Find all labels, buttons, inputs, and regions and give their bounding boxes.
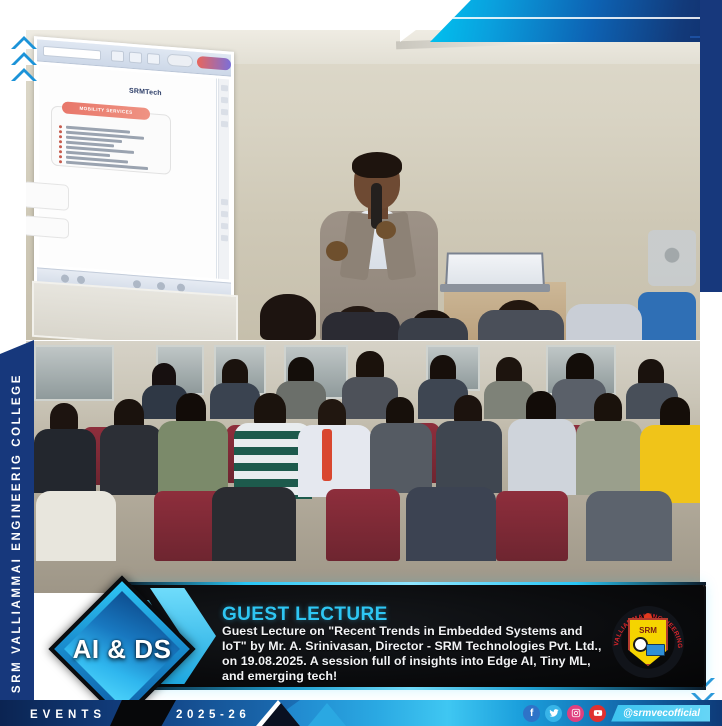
social-handle-text: @srmvecofficial	[623, 708, 700, 719]
facebook-icon[interactable]: f	[523, 705, 540, 722]
side-card	[26, 215, 69, 239]
twitter-icon[interactable]	[545, 705, 562, 722]
mobility-services-card: MOBILITY SERVICES	[51, 105, 171, 174]
chevron-up-icon	[10, 36, 40, 96]
side-card	[26, 181, 69, 211]
instagram-icon[interactable]	[567, 705, 584, 722]
right-frame-navy	[700, 0, 722, 292]
pdf-ask-ai-button	[197, 56, 231, 71]
banner-title: GUEST LECTURE	[222, 604, 388, 626]
mobility-services-header: MOBILITY SERVICES	[62, 101, 150, 120]
college-logo: VALLIAMMAI ENGINEERING COLLEGE SRM	[610, 604, 686, 682]
events-label: EVENTS	[30, 709, 106, 721]
projector-screen: SRMTech MOBILITY SERVICES	[34, 36, 234, 302]
logo-book-icon	[646, 644, 665, 656]
bullet-line	[66, 161, 148, 170]
banner-description: Guest Lecture on "Recent Trends in Embed…	[222, 624, 610, 684]
speaker-hand	[326, 241, 348, 261]
blue-chair	[638, 292, 696, 340]
top-diagonal-highlight	[430, 0, 722, 42]
events-strip: EVENTS 2025-26 f @srmvecofficial	[0, 700, 722, 726]
window	[34, 345, 114, 401]
social-links: f @srmvecofficial	[523, 704, 710, 722]
event-poster: SRMTech MOBILITY SERVICES	[0, 0, 722, 726]
right-frame-accent-line	[690, 36, 700, 38]
logo-shield-text: SRM	[628, 626, 668, 635]
pdf-tool-icon	[111, 50, 124, 62]
pdf-page: SRMTech MOBILITY SERVICES	[39, 65, 217, 279]
photo-audience	[26, 341, 702, 593]
laptop-screen	[445, 253, 545, 286]
pdf-share-button	[167, 54, 193, 68]
youtube-icon[interactable]	[589, 705, 606, 722]
photo-speaker: SRMTech MOBILITY SERVICES	[26, 30, 702, 340]
pdf-tool-icon	[129, 52, 142, 64]
department-badge: AI & DS	[47, 578, 197, 720]
pdf-tool-icon	[147, 53, 160, 65]
academic-year-label: 2025-26	[176, 709, 250, 721]
wall-fan	[648, 230, 696, 286]
social-handle-chip[interactable]: @srmvecofficial	[611, 705, 710, 722]
pdf-search-field	[43, 46, 101, 61]
pdf-side-rail	[218, 79, 229, 280]
badge-label: AI & DS	[47, 578, 197, 720]
speaker-hand	[376, 221, 396, 239]
srmtech-logo: SRMTech	[129, 88, 162, 98]
pdf-canvas: SRMTech MOBILITY SERVICES	[37, 61, 231, 282]
laptop-base	[440, 284, 550, 292]
speaker-hair	[352, 152, 402, 178]
mobility-services-title: MOBILITY SERVICES	[62, 101, 150, 120]
